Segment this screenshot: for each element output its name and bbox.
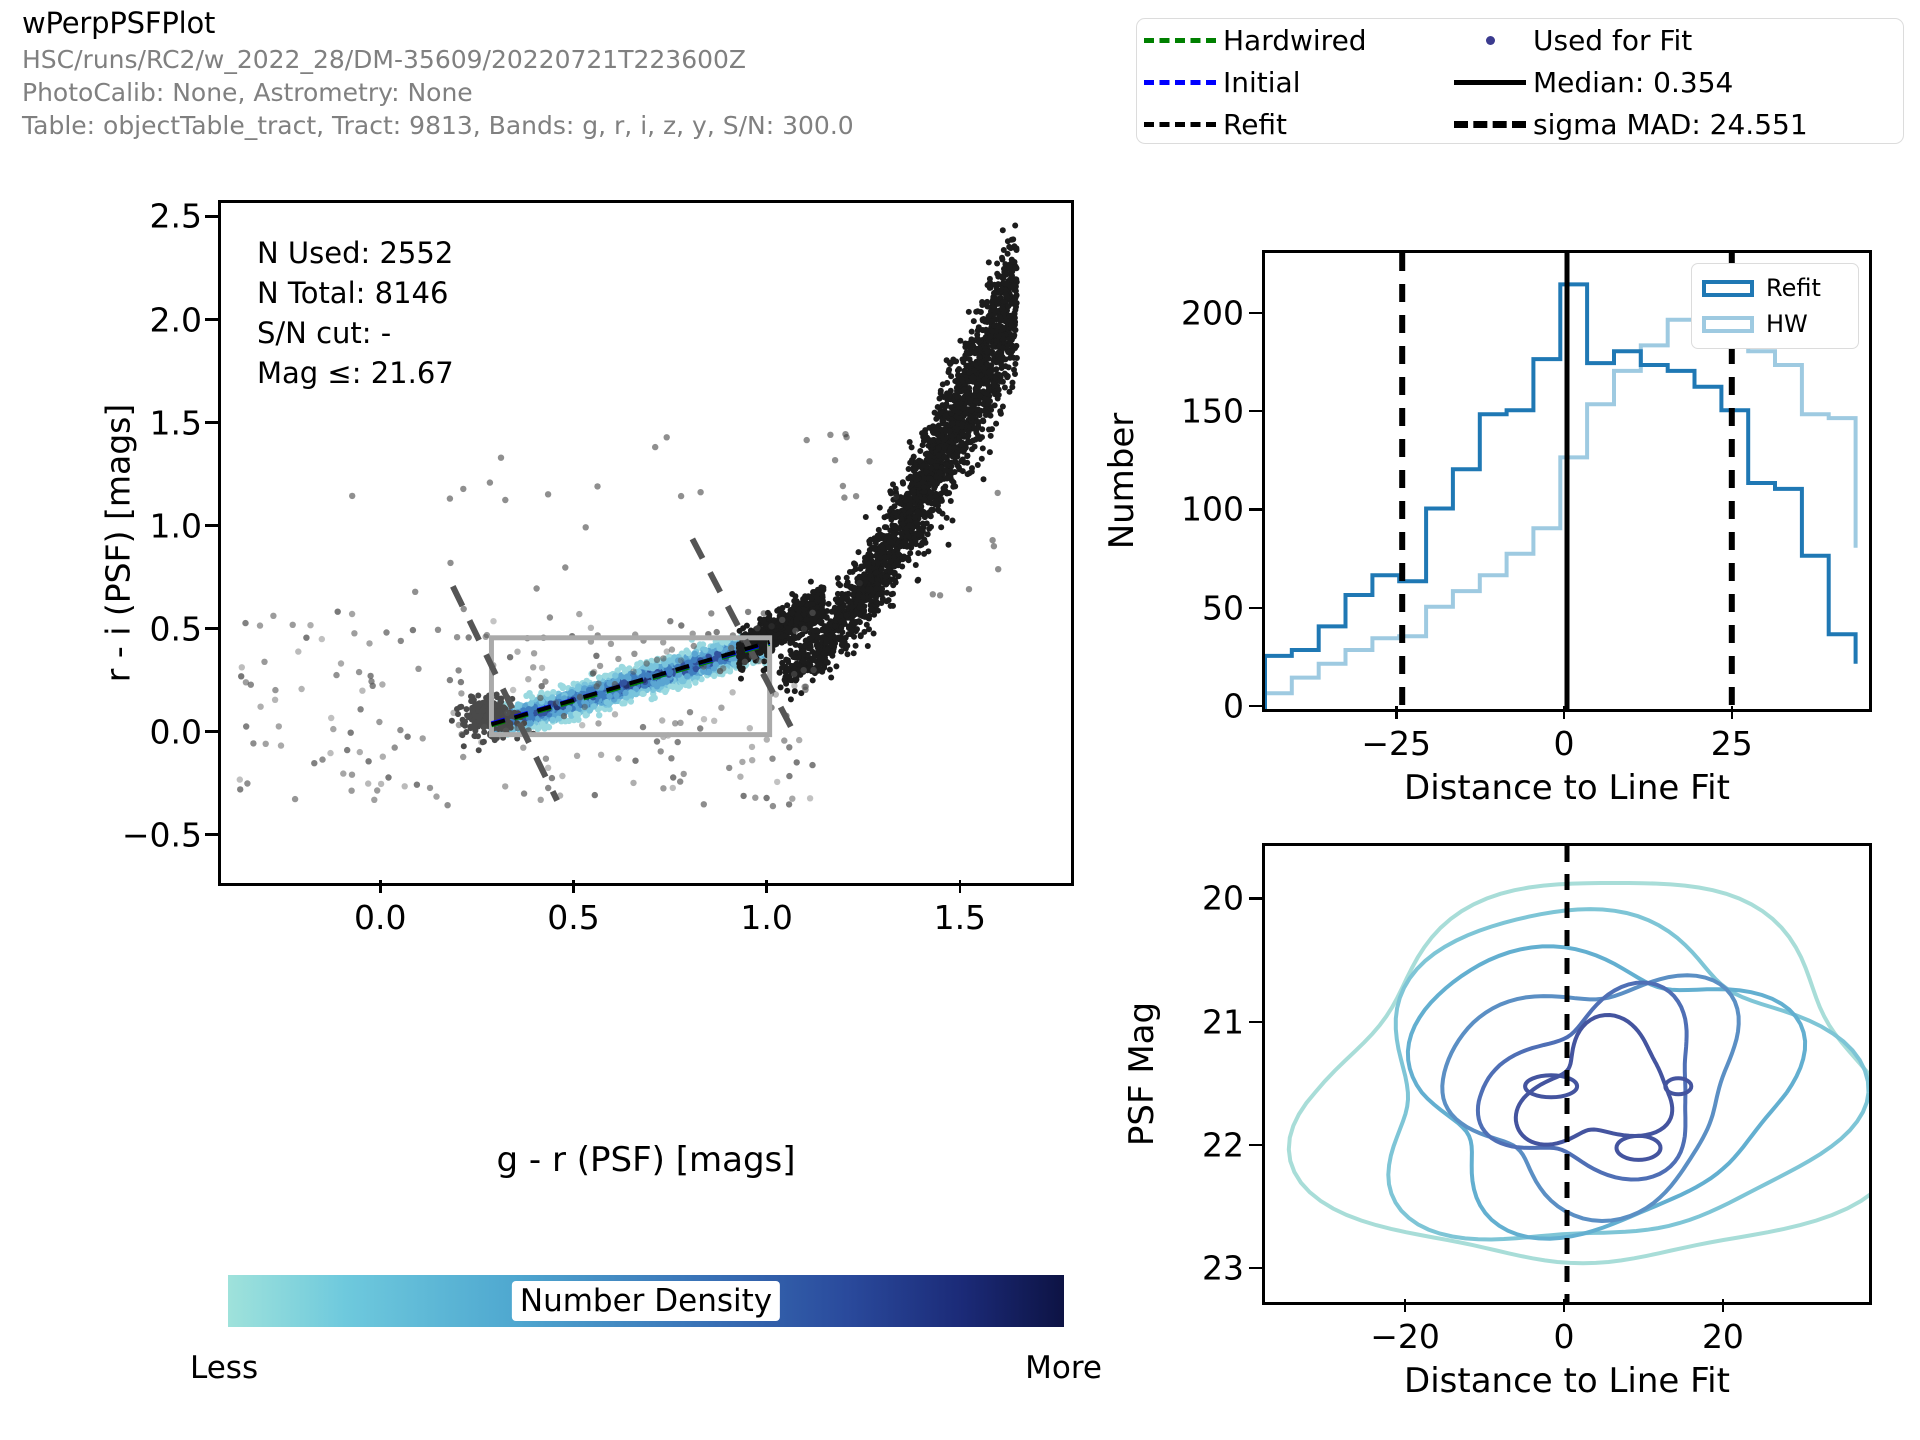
dashed-line-icon: [1137, 122, 1223, 127]
stat-n-total: N Total: 8146: [257, 273, 454, 313]
main-y-tick-label: 1.5: [150, 403, 202, 442]
stats-box: N Used: 2552 N Total: 8146 S/N cut: - Ma…: [257, 233, 454, 393]
main-x-tick-mark: [765, 880, 768, 893]
page-title: wPerpPSFPlot: [22, 6, 215, 40]
dashed-line-icon: [1137, 80, 1223, 85]
contour-y-tick-label: 22: [1202, 1125, 1244, 1164]
legend-item-sigma-mad: sigma MAD: 24.551: [1447, 103, 1903, 145]
legend-item-used-for-fit: Used for Fit: [1447, 19, 1903, 61]
contour-y-axis-label: PSF Mag: [1122, 1002, 1162, 1146]
contour-y-tick-label: 20: [1202, 879, 1244, 918]
legend-item-refit: Refit: [1137, 103, 1447, 145]
contour-level-5: [1516, 1015, 1672, 1145]
hist-y-tick-mark: [1249, 508, 1262, 511]
legend-label: sigma MAD: 24.551: [1533, 108, 1808, 141]
hist-y-tick-label: 200: [1181, 293, 1244, 332]
contour-x-tick-mark: [1722, 1299, 1725, 1312]
main-x-axis-label: g - r (PSF) [mags]: [496, 1140, 795, 1180]
main-y-tick-label: 0.0: [150, 712, 202, 751]
hist-y-tick-label: 0: [1223, 687, 1244, 726]
contour-canvas: [1265, 846, 1869, 1302]
main-y-tick-mark: [205, 730, 218, 733]
hist-y-tick-label: 150: [1181, 392, 1244, 431]
contour-x-axis-label: Distance to Line Fit: [1404, 1361, 1730, 1401]
top-legend: Hardwired Used for Fit Initial Median: 0…: [1136, 18, 1904, 144]
hist-y-axis-label: Number: [1102, 413, 1142, 550]
legend-label: Initial: [1223, 66, 1300, 99]
thick-dashed-line-icon: [1447, 121, 1533, 128]
main-scatter-plot[interactable]: N Used: 2552 N Total: 8146 S/N cut: - Ma…: [218, 200, 1074, 886]
hist-legend-label: HW: [1766, 310, 1808, 338]
main-x-tick-label: 1.0: [740, 898, 792, 937]
dot-marker-icon: [1447, 36, 1533, 45]
legend-label: Refit: [1223, 108, 1287, 141]
main-y-tick-mark: [205, 215, 218, 218]
refit-swatch-icon: [1702, 280, 1754, 297]
main-y-tick-mark: [205, 627, 218, 630]
hist-x-tick-label: 0: [1554, 724, 1575, 763]
contour-y-tick-mark: [1249, 1144, 1262, 1147]
contour-island-b: [1665, 1078, 1691, 1094]
legend-label: Used for Fit: [1533, 24, 1692, 57]
histogram-legend: Refit HW: [1691, 263, 1859, 349]
main-y-tick-label: −0.5: [122, 815, 202, 854]
contour-x-tick-mark: [1563, 1299, 1566, 1312]
hist-legend-label: Refit: [1766, 274, 1821, 302]
hist-y-tick-label: 50: [1202, 588, 1244, 627]
hist-x-tick-mark: [1563, 706, 1566, 719]
stat-mag-cut: Mag ≤: 21.67: [257, 353, 454, 393]
main-y-tick-label: 2.5: [150, 197, 202, 236]
contour-level-4: [1478, 983, 1687, 1180]
distance-histogram-panel[interactable]: Refit HW: [1262, 250, 1872, 712]
header-table-line: Table: objectTable_tract, Tract: 9813, B…: [22, 111, 854, 140]
psf-mag-contour-panel[interactable]: [1262, 843, 1872, 1305]
hist-y-tick-mark: [1249, 607, 1262, 610]
legend-label: Median: 0.354: [1533, 66, 1733, 99]
hist-x-tick-mark: [1731, 706, 1734, 719]
stat-sn-cut: S/N cut: -: [257, 313, 454, 353]
header-collection-line: HSC/runs/RC2/w_2022_28/DM-35609/20220721…: [22, 45, 746, 74]
main-y-tick-label: 1.0: [150, 506, 202, 545]
main-y-axis-label: r - i (PSF) [mags]: [99, 404, 138, 682]
contour-y-tick-mark: [1249, 1267, 1262, 1270]
hist-x-tick-mark: [1395, 706, 1398, 719]
contour-y-tick-label: 21: [1202, 1002, 1244, 1041]
solid-line-icon: [1447, 80, 1533, 85]
hist-legend-item-refit: Refit: [1702, 274, 1858, 302]
legend-item-initial: Initial: [1137, 61, 1447, 103]
hist-x-axis-label: Distance to Line Fit: [1404, 768, 1730, 808]
main-x-tick-mark: [959, 880, 962, 893]
contour-island-c: [1617, 1136, 1661, 1160]
legend-item-hardwired: Hardwired: [1137, 19, 1447, 61]
main-y-tick-mark: [205, 421, 218, 424]
hw-swatch-icon: [1702, 316, 1754, 333]
header-calib-line: PhotoCalib: None, Astrometry: None: [22, 78, 473, 107]
dashed-line-icon: [1137, 38, 1223, 43]
main-x-tick-label: 1.5: [934, 898, 986, 937]
main-y-tick-mark: [205, 524, 218, 527]
contour-y-tick-mark: [1249, 897, 1262, 900]
hist-legend-item-hw: HW: [1702, 310, 1858, 338]
colorbar-high-label: More: [1025, 1350, 1102, 1386]
contour-x-tick-label: −20: [1370, 1317, 1440, 1356]
hist-y-tick-mark: [1249, 705, 1262, 708]
main-x-tick-mark: [572, 880, 575, 893]
main-y-tick-mark: [205, 318, 218, 321]
stat-n-used: N Used: 2552: [257, 233, 454, 273]
colorbar-low-label: Less: [190, 1350, 258, 1386]
contour-x-tick-label: 0: [1554, 1317, 1575, 1356]
hist-x-tick-label: −25: [1361, 724, 1431, 763]
main-y-tick-label: 0.5: [150, 609, 202, 648]
contour-level-0: [1289, 883, 1869, 1263]
contour-y-tick-mark: [1249, 1021, 1262, 1024]
main-x-tick-label: 0.0: [354, 898, 406, 937]
main-y-tick-mark: [205, 833, 218, 836]
hist-x-tick-label: 25: [1711, 724, 1753, 763]
main-y-tick-label: 2.0: [150, 300, 202, 339]
main-x-tick-label: 0.5: [547, 898, 599, 937]
hist-y-tick-mark: [1249, 410, 1262, 413]
colorbar-title: Number Density: [512, 1281, 780, 1321]
hist-y-tick-mark: [1249, 312, 1262, 315]
contour-x-tick-label: 20: [1702, 1317, 1744, 1356]
hist-y-tick-label: 100: [1181, 490, 1244, 529]
contour-y-tick-label: 23: [1202, 1249, 1244, 1288]
legend-item-median: Median: 0.354: [1447, 61, 1903, 103]
main-x-tick-mark: [379, 880, 382, 893]
contour-x-tick-mark: [1404, 1299, 1407, 1312]
hist-series-hw: [1265, 306, 1856, 709]
legend-label: Hardwired: [1223, 24, 1367, 57]
